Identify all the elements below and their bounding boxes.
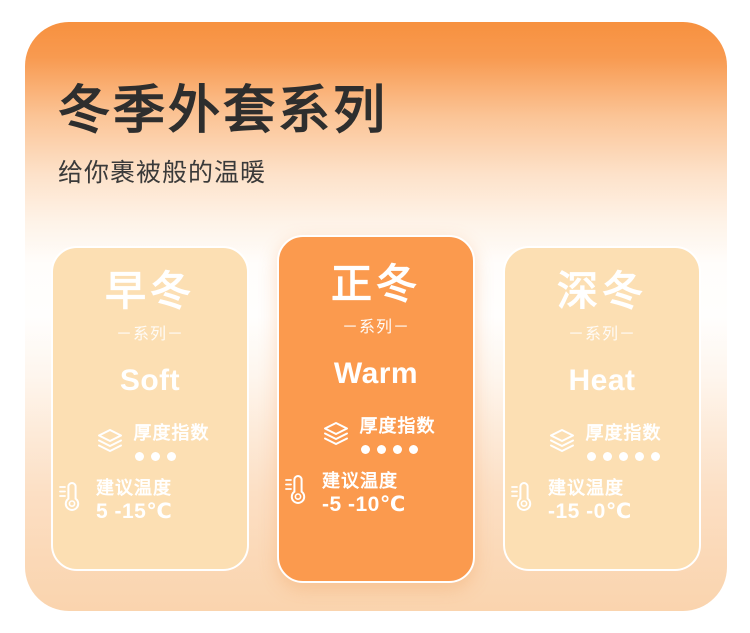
- thickness-dot: [393, 445, 402, 454]
- thickness-body: 厚度指数: [360, 415, 436, 454]
- header-block: 冬季外套系列 给你裹被般的温暖: [58, 84, 688, 189]
- series-card-heat[interactable]: 深冬 －系列－ Heat 厚度指数: [503, 246, 701, 571]
- page-title: 冬季外套系列: [58, 84, 688, 139]
- thickness-dot: [167, 452, 176, 461]
- card-cn-name: 早冬: [53, 270, 247, 313]
- layers-icon: [547, 423, 577, 457]
- thickness-dots: [586, 452, 662, 461]
- temperature-label: 建议温度: [548, 478, 624, 498]
- thickness-dot: [651, 452, 660, 461]
- thickness-dot: [635, 452, 644, 461]
- temperature-value: 5 -15℃: [96, 500, 172, 523]
- thermometer-icon: [57, 478, 87, 512]
- thickness-dot: [603, 452, 612, 461]
- card-en-name: Heat: [505, 364, 699, 398]
- thickness-spec: 厚度指数: [505, 422, 699, 461]
- thickness-body: 厚度指数: [586, 422, 662, 461]
- card-en-name: Warm: [279, 357, 473, 391]
- thickness-dot: [619, 452, 628, 461]
- thickness-spec: 厚度指数: [53, 422, 247, 461]
- layers-icon: [95, 423, 125, 457]
- temperature-body: 建议温度 5 -15℃: [96, 477, 247, 525]
- thickness-dot: [377, 445, 386, 454]
- thermometer-icon: [283, 471, 313, 505]
- page-subtitle: 给你裹被般的温暖: [58, 153, 688, 189]
- thickness-body: 厚度指数: [134, 422, 210, 461]
- temperature-value: -5 -10℃: [322, 493, 406, 516]
- thickness-dot: [151, 452, 160, 461]
- thickness-label: 厚度指数: [134, 423, 210, 443]
- temperature-label: 建议温度: [322, 471, 398, 491]
- temperature-body: 建议温度 -5 -10℃: [322, 470, 473, 518]
- temperature-body: 建议温度 -15 -0℃: [548, 477, 699, 525]
- temperature-spec: 建议温度 -15 -0℃: [505, 477, 699, 525]
- card-cn-name: 正冬: [279, 263, 473, 306]
- thickness-dot: [135, 452, 144, 461]
- thickness-label: 厚度指数: [360, 416, 436, 436]
- thickness-label: 厚度指数: [586, 423, 662, 443]
- temperature-spec: 建议温度 5 -15℃: [53, 477, 247, 525]
- thickness-dot: [361, 445, 370, 454]
- card-cn-name: 深冬: [505, 270, 699, 313]
- card-en-name: Soft: [53, 364, 247, 398]
- series-card-list: 早冬 －系列－ Soft 厚度指数: [51, 235, 701, 583]
- series-card-soft[interactable]: 早冬 －系列－ Soft 厚度指数: [51, 246, 249, 571]
- thickness-dots: [360, 445, 436, 454]
- gradient-panel: 冬季外套系列 给你裹被般的温暖 早冬 －系列－ Soft: [25, 22, 727, 611]
- thermometer-icon: [509, 478, 539, 512]
- temperature-spec: 建议温度 -5 -10℃: [279, 470, 473, 518]
- thickness-spec: 厚度指数: [279, 415, 473, 454]
- temperature-value: -15 -0℃: [548, 500, 632, 523]
- thickness-dots: [134, 452, 210, 461]
- promo-banner: 冬季外套系列 给你裹被般的温暖 早冬 －系列－ Soft: [0, 0, 750, 633]
- thickness-dot: [409, 445, 418, 454]
- layers-icon: [321, 416, 351, 450]
- card-series-label: －系列－: [53, 320, 247, 344]
- temperature-label: 建议温度: [96, 478, 172, 498]
- thickness-dot: [587, 452, 596, 461]
- card-series-label: －系列－: [505, 320, 699, 344]
- card-series-label: －系列－: [279, 313, 473, 337]
- series-card-warm[interactable]: 正冬 －系列－ Warm 厚度指数: [277, 235, 475, 583]
